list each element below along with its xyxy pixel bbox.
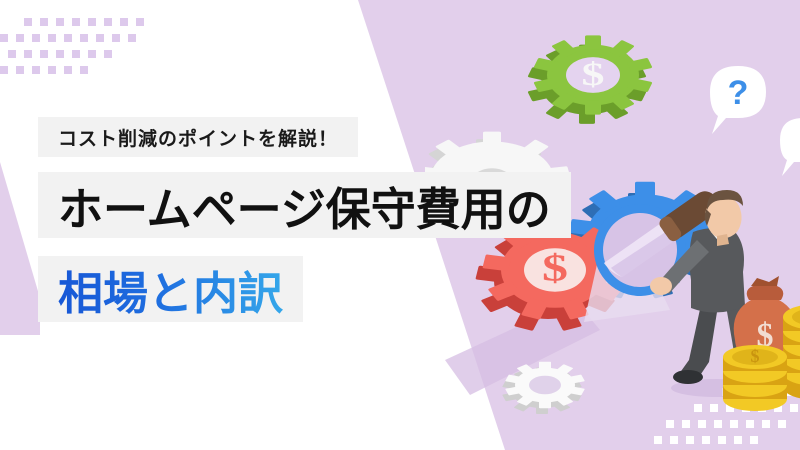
grid-dot xyxy=(16,34,24,42)
title-line2-band: 相場と内訳 xyxy=(38,256,303,322)
grid-dot xyxy=(0,66,8,74)
grid-dot xyxy=(136,18,144,26)
grid-dot xyxy=(56,50,64,58)
grid-dot xyxy=(88,50,96,58)
grid-dot xyxy=(32,34,40,42)
title-line1-text: ホームページ保守費用の xyxy=(58,173,551,238)
grid-dot xyxy=(48,66,56,74)
subtitle-band: コスト削減のポイントを解説！ xyxy=(38,117,358,157)
hand xyxy=(650,277,672,295)
grid-dot xyxy=(32,66,40,74)
grid-dot xyxy=(88,18,96,26)
coin-stack-front: $ xyxy=(723,345,787,411)
question-mark-glyph: ? xyxy=(728,74,749,112)
neck xyxy=(717,234,729,246)
grid-dot xyxy=(72,50,80,58)
grid-dot xyxy=(64,34,72,42)
grid-dot xyxy=(40,18,48,26)
banner-canvas: $ xyxy=(0,0,800,450)
grid-dot xyxy=(64,66,72,74)
grid-dot xyxy=(80,66,88,74)
title-line1-band: ホームページ保守費用の xyxy=(38,172,571,238)
grid-dot xyxy=(112,34,120,42)
speech-bubble-exclamation: ! xyxy=(780,118,800,176)
subtitle-text: コスト削減のポイントを解説！ xyxy=(58,124,338,151)
grid-dot xyxy=(80,34,88,42)
grid-dot xyxy=(104,18,112,26)
grid-dot xyxy=(48,34,56,42)
speech-bubble-question: ? xyxy=(710,66,766,134)
title-line2-text: 相場と内訳 xyxy=(58,257,283,322)
grid-dot xyxy=(16,66,24,74)
grid-dot xyxy=(96,34,104,42)
grid-dot xyxy=(56,18,64,26)
grid-dot xyxy=(120,18,128,26)
grid-dot xyxy=(24,18,32,26)
grid-dot xyxy=(72,18,80,26)
grid-dot xyxy=(24,50,32,58)
grid-dot xyxy=(8,50,16,58)
grid-dot xyxy=(104,50,112,58)
money-bag-neck xyxy=(747,286,784,300)
shoe-back xyxy=(673,370,703,384)
dollar-symbol-green: $ xyxy=(581,55,604,92)
grid-dot xyxy=(40,50,48,58)
grid-dot xyxy=(0,34,8,42)
grid-dot xyxy=(128,34,136,42)
gear-green-dollar: $ xyxy=(527,35,652,123)
dollar-symbol-coin: $ xyxy=(751,346,760,366)
dollar-symbol-red: $ xyxy=(542,246,568,289)
